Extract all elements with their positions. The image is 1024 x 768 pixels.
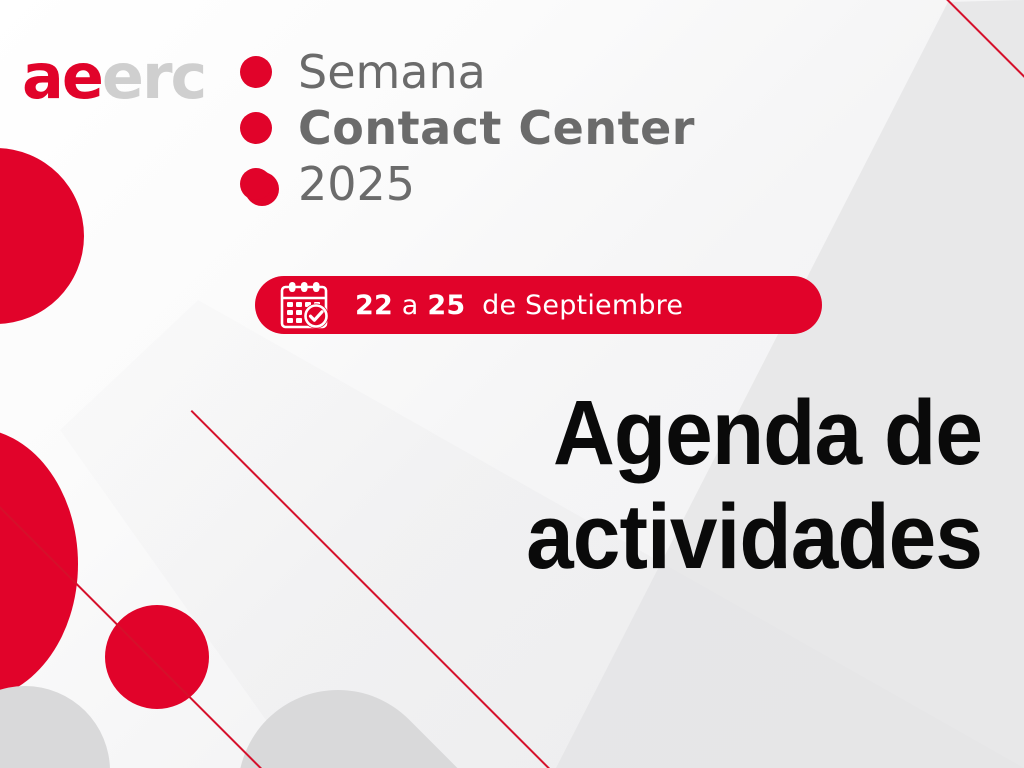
page-title-line-2: actividades (405, 486, 982, 590)
calendar-check-icon (279, 281, 333, 329)
event-line-3: 2025 (240, 156, 695, 212)
bullet-dot-icon (240, 112, 272, 144)
date-day-start: 22 (355, 290, 393, 321)
event-title-semana: Semana (298, 49, 486, 95)
event-line-2: Contact Center (240, 100, 695, 156)
date-month-label: de Septiembre (482, 290, 683, 321)
event-title-block: Semana Contact Center 2025 (240, 44, 695, 212)
event-title-contact-center: Contact Center (298, 105, 695, 151)
bullet-dot-icon (240, 168, 272, 200)
poster-canvas: aeerc Semana Contact Center 2025 (0, 0, 1024, 768)
page-title-line-1: Agenda de (405, 382, 982, 486)
logo-secondary-text: erc (102, 40, 205, 113)
logo-primary-text: ae (22, 40, 102, 113)
date-connector: a (402, 290, 419, 321)
bullet-dot-icon (240, 56, 272, 88)
aeerc-logo: aeerc (22, 46, 205, 108)
page-title: Agenda de actividades (405, 382, 982, 590)
event-title-year: 2025 (298, 161, 415, 207)
date-badge: 22 a 25 de Septiembre (255, 276, 822, 334)
event-line-1: Semana (240, 44, 695, 100)
red-circle-medium (105, 605, 209, 709)
date-day-end: 25 (427, 290, 465, 321)
date-badge-text: 22 a 25 de Septiembre (355, 290, 683, 321)
